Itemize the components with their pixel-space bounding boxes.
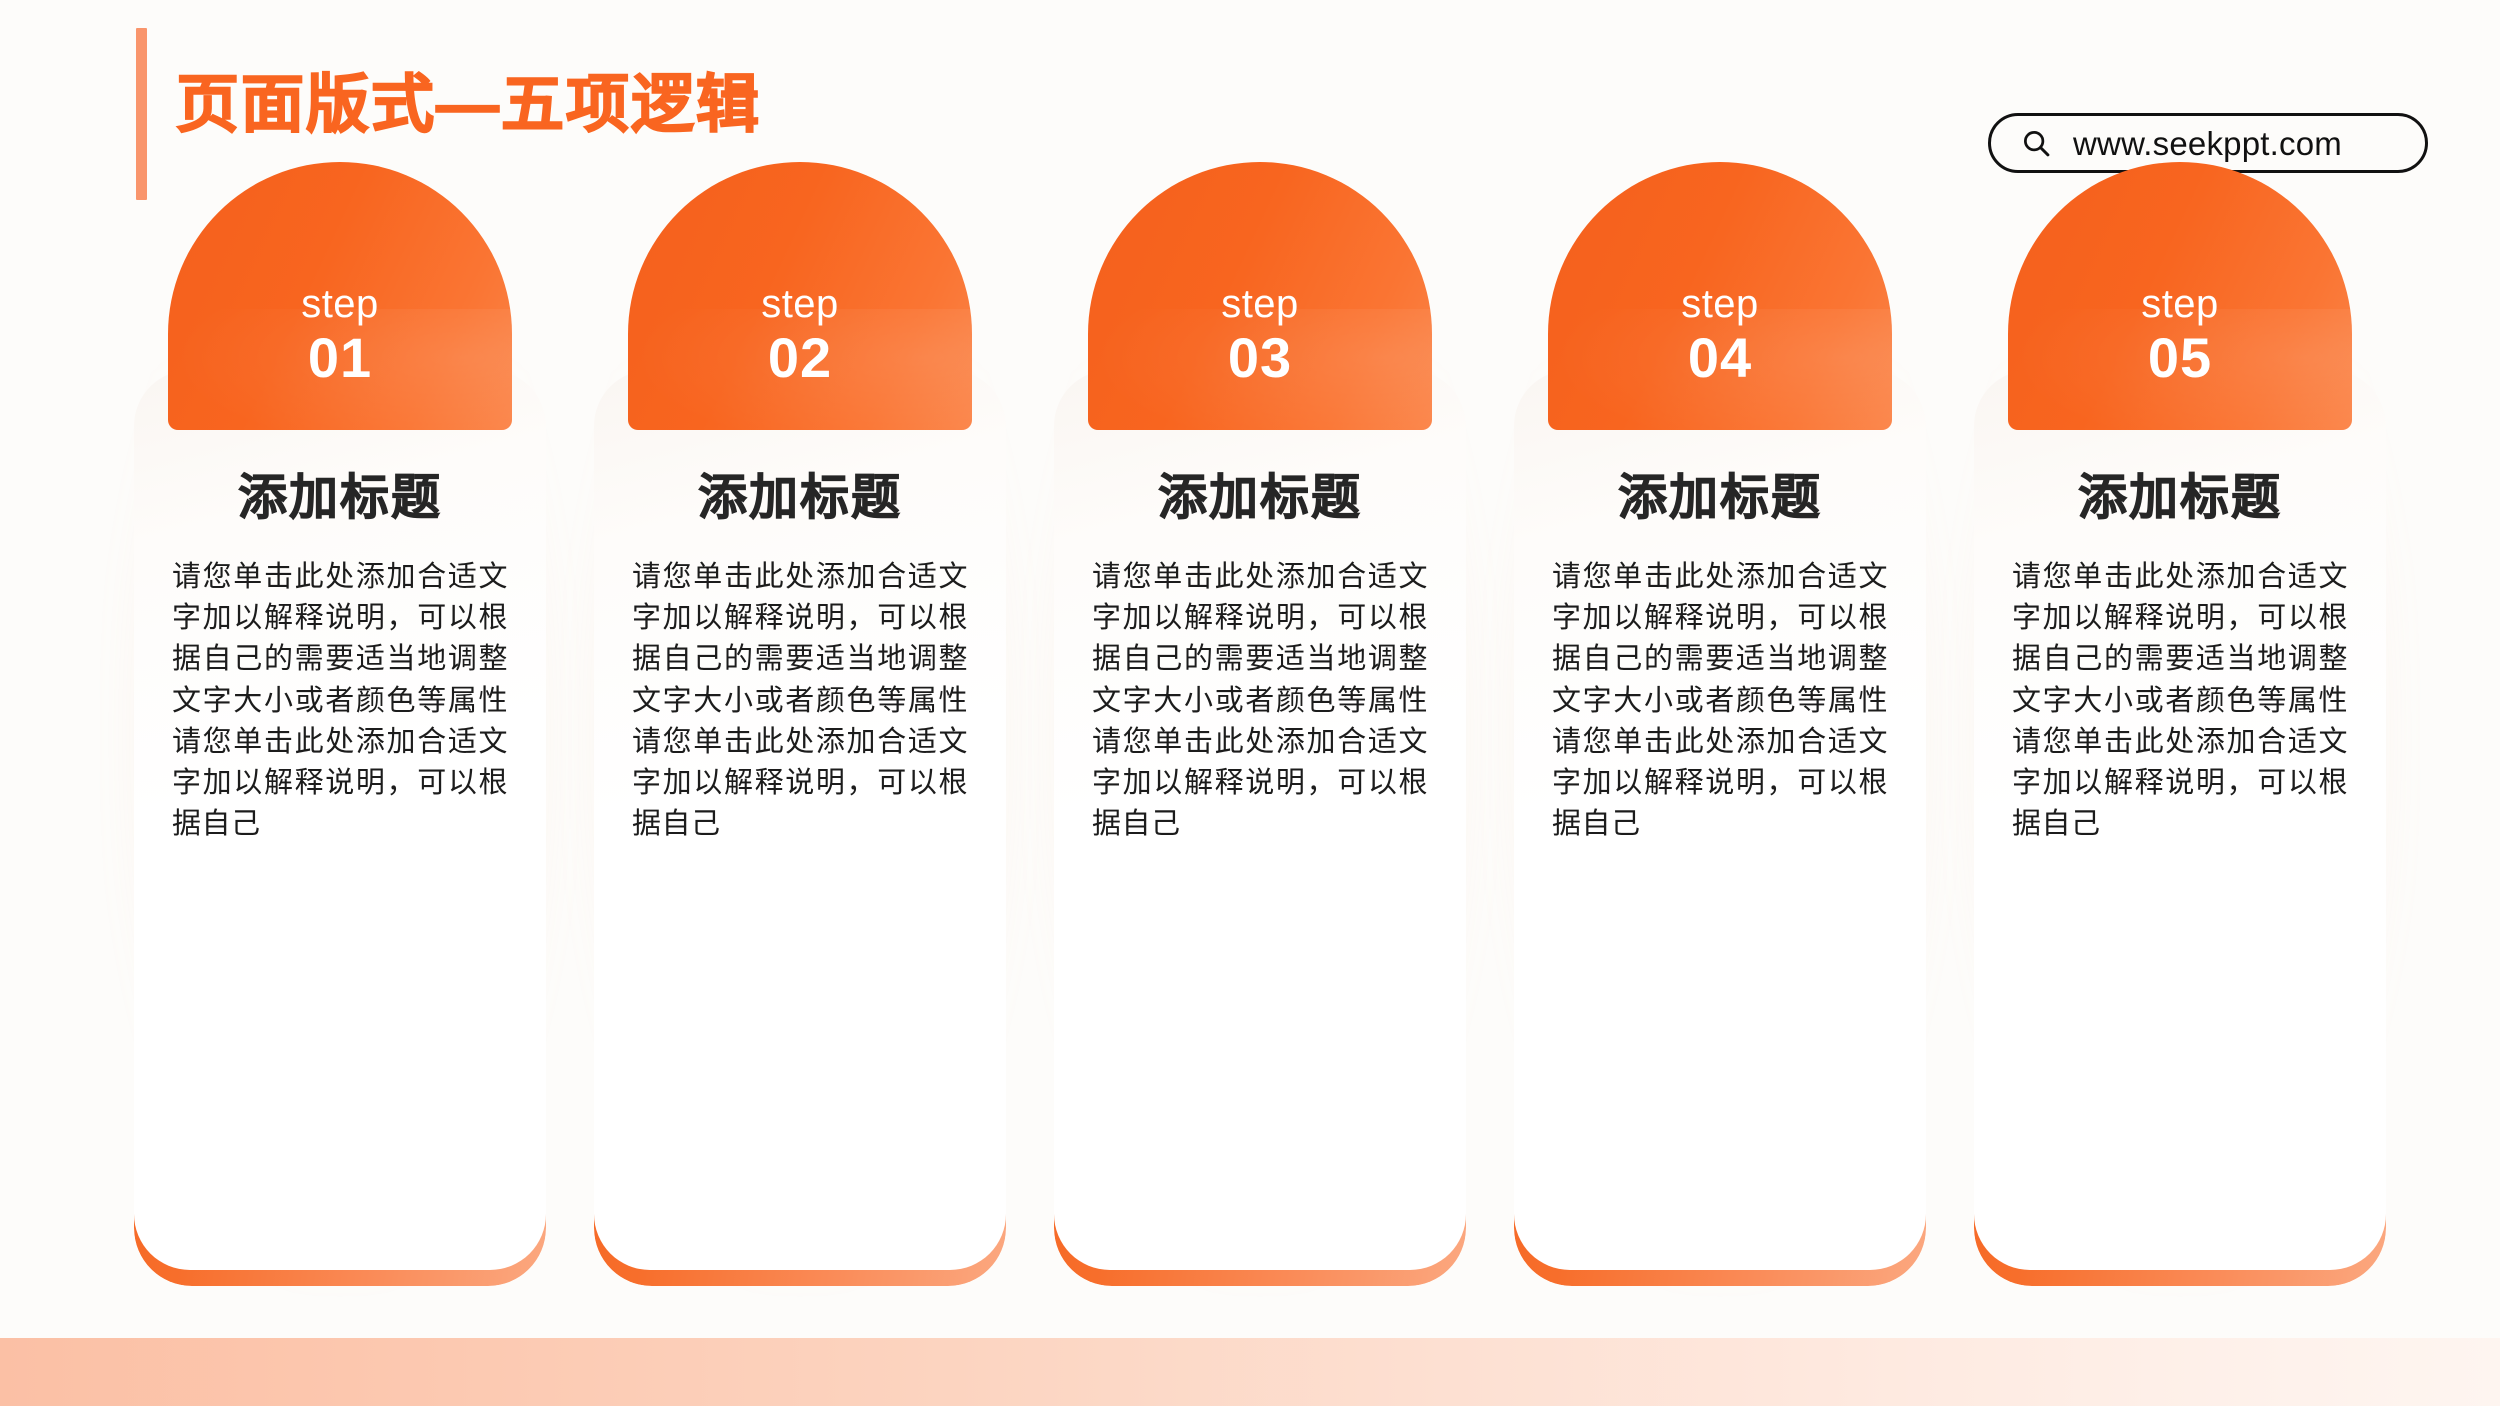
- card-content: 添加标题 请您单击此处添加合适文字加以解释说明，可以根据自己的需要适当地调整文字…: [1054, 370, 1466, 1270]
- search-icon: [2021, 128, 2051, 158]
- step-label: step: [628, 284, 972, 324]
- steps-row: 添加标题 请您单击此处添加合适文字加以解释说明，可以根据自己的需要适当地调整文字…: [0, 258, 2500, 1298]
- step-card-02[interactable]: 添加标题 请您单击此处添加合适文字加以解释说明，可以根据自己的需要适当地调整文字…: [580, 258, 1020, 1288]
- step-number: 05: [2008, 330, 2352, 386]
- card-face: 添加标题 请您单击此处添加合适文字加以解释说明，可以根据自己的需要适当地调整文字…: [1514, 370, 1926, 1270]
- card-body-text: 请您单击此处添加合适文字加以解释说明，可以根据自己的需要适当地调整文字大小或者颜…: [620, 557, 980, 845]
- page-title: 页面版式—五项逻辑: [176, 74, 761, 137]
- card-title: 添加标题: [1540, 474, 1900, 523]
- card-face: 添加标题 请您单击此处添加合适文字加以解释说明，可以根据自己的需要适当地调整文字…: [134, 370, 546, 1270]
- step-card-03[interactable]: 添加标题 请您单击此处添加合适文字加以解释说明，可以根据自己的需要适当地调整文字…: [1040, 258, 1480, 1288]
- step-number: 01: [168, 330, 512, 386]
- step-number: 03: [1088, 330, 1432, 386]
- step-label: step: [2008, 284, 2352, 324]
- step-card-04[interactable]: 添加标题 请您单击此处添加合适文字加以解释说明，可以根据自己的需要适当地调整文字…: [1500, 258, 1940, 1288]
- card-content: 添加标题 请您单击此处添加合适文字加以解释说明，可以根据自己的需要适当地调整文字…: [134, 370, 546, 1270]
- step-label: step: [1088, 284, 1432, 324]
- card-title: 添加标题: [2000, 474, 2360, 523]
- title-accent-bar: [136, 28, 147, 200]
- card-body-text: 请您单击此处添加合适文字加以解释说明，可以根据自己的需要适当地调整文字大小或者颜…: [160, 557, 520, 845]
- card-content: 添加标题 请您单击此处添加合适文字加以解释说明，可以根据自己的需要适当地调整文字…: [1514, 370, 1926, 1270]
- card-face: 添加标题 请您单击此处添加合适文字加以解释说明，可以根据自己的需要适当地调整文字…: [1054, 370, 1466, 1270]
- step-number: 04: [1548, 330, 1892, 386]
- card-face: 添加标题 请您单击此处添加合适文字加以解释说明，可以根据自己的需要适当地调整文字…: [594, 370, 1006, 1270]
- slide-canvas: 页面版式—五项逻辑 www.seekppt.com 添加标题 请您单击此处添加合…: [0, 0, 2500, 1406]
- step-card-01[interactable]: 添加标题 请您单击此处添加合适文字加以解释说明，可以根据自己的需要适当地调整文字…: [120, 258, 560, 1288]
- card-body-text: 请您单击此处添加合适文字加以解释说明，可以根据自己的需要适当地调整文字大小或者颜…: [1540, 557, 1900, 845]
- card-title: 添加标题: [1080, 474, 1440, 523]
- card-title: 添加标题: [160, 474, 520, 523]
- card-body-text: 请您单击此处添加合适文字加以解释说明，可以根据自己的需要适当地调整文字大小或者颜…: [1080, 557, 1440, 845]
- card-body-text: 请您单击此处添加合适文字加以解释说明，可以根据自己的需要适当地调整文字大小或者颜…: [2000, 557, 2360, 845]
- card-content: 添加标题 请您单击此处添加合适文字加以解释说明，可以根据自己的需要适当地调整文字…: [594, 370, 1006, 1270]
- step-label: step: [1548, 284, 1892, 324]
- card-face: 添加标题 请您单击此处添加合适文字加以解释说明，可以根据自己的需要适当地调整文字…: [1974, 370, 2386, 1270]
- step-number: 02: [628, 330, 972, 386]
- search-url-text: www.seekppt.com: [2073, 127, 2342, 160]
- step-card-05[interactable]: 添加标题 请您单击此处添加合适文字加以解释说明，可以根据自己的需要适当地调整文字…: [1960, 258, 2400, 1288]
- footer-gradient-bar: [0, 1338, 2500, 1406]
- card-title: 添加标题: [620, 474, 980, 523]
- card-content: 添加标题 请您单击此处添加合适文字加以解释说明，可以根据自己的需要适当地调整文字…: [1974, 370, 2386, 1270]
- step-label: step: [168, 284, 512, 324]
